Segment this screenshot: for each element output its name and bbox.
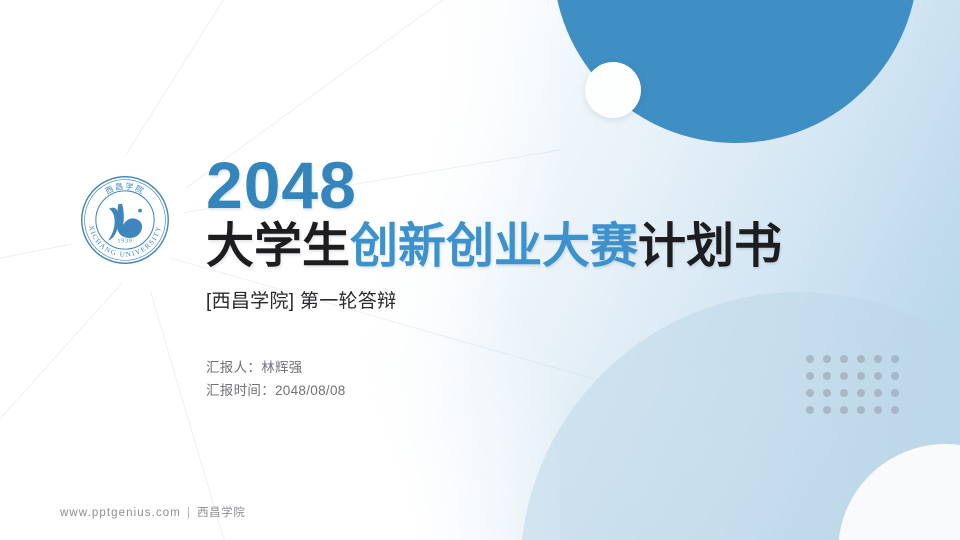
svg-text:西昌学院: 西昌学院: [104, 181, 147, 196]
university-logo-icon: 西昌学院 XICHANG UNIVERSITY 1939: [78, 173, 172, 267]
logo-chinese-name: 西昌学院: [104, 181, 147, 196]
logo-accent-dot: [138, 209, 142, 213]
date-line: 汇报时间：2048/08/08: [206, 380, 826, 403]
footer: www.pptgenius.com|西昌学院: [60, 504, 245, 520]
decor-white-dot-circle: [585, 62, 641, 118]
footer-site-url[interactable]: www.pptgenius.com: [60, 507, 181, 519]
footer-separator: |: [187, 507, 191, 519]
footer-organization: 西昌学院: [197, 507, 245, 519]
page-title: 大学生创新创业大赛计划书: [206, 221, 826, 273]
headline-accent: 创新创业大赛: [350, 220, 638, 273]
logo-founded-year: 1939: [117, 239, 132, 245]
title-slide: 西昌学院 XICHANG UNIVERSITY 1939 2048 大学生创新创…: [0, 0, 960, 540]
presentation-meta: 汇报人：林辉强 汇报时间：2048/08/08: [206, 357, 826, 402]
headline-tail: 计划书: [638, 220, 782, 273]
year-heading: 2048: [206, 152, 826, 218]
presenter-line: 汇报人：林辉强: [206, 357, 826, 380]
title-text-block: 2048 大学生创新创业大赛计划书 [西昌学院] 第一轮答辩 汇报人：林辉强 汇…: [206, 152, 826, 402]
logo-monogram-right-stroke: [117, 204, 142, 238]
subtitle: [西昌学院] 第一轮答辩: [206, 286, 826, 313]
headline-lead: 大学生: [206, 220, 350, 273]
